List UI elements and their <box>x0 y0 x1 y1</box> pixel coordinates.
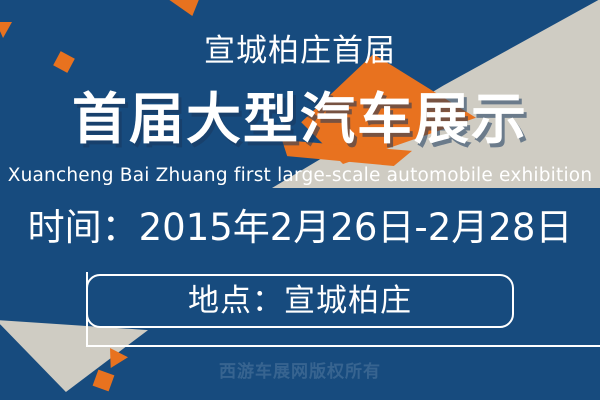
white-horizontal-rule-divider <box>86 345 600 347</box>
pretitle-text: 宣城柏庄首届 <box>0 36 600 67</box>
event-date-text: 时间：2015年2月26日-2月28日 <box>0 209 600 246</box>
beige-triangle-bottom-left-shape <box>0 320 148 392</box>
copyright-watermark: 西游车展网版权所有 <box>0 364 600 381</box>
event-location-text: 地点：宣城柏庄 <box>188 286 412 317</box>
event-location-box: 地点：宣城柏庄 <box>86 274 514 328</box>
english-subtitle: Xuancheng Bai Zhuang first large-scale a… <box>0 167 600 186</box>
headline-title: 首届大型汽车展示 <box>0 92 600 147</box>
orange-triangle-top-center-shape <box>158 0 202 16</box>
promotional-banner: 宣城柏庄首届 首届大型汽车展示 Xuancheng Bai Zhuang fir… <box>0 0 600 400</box>
